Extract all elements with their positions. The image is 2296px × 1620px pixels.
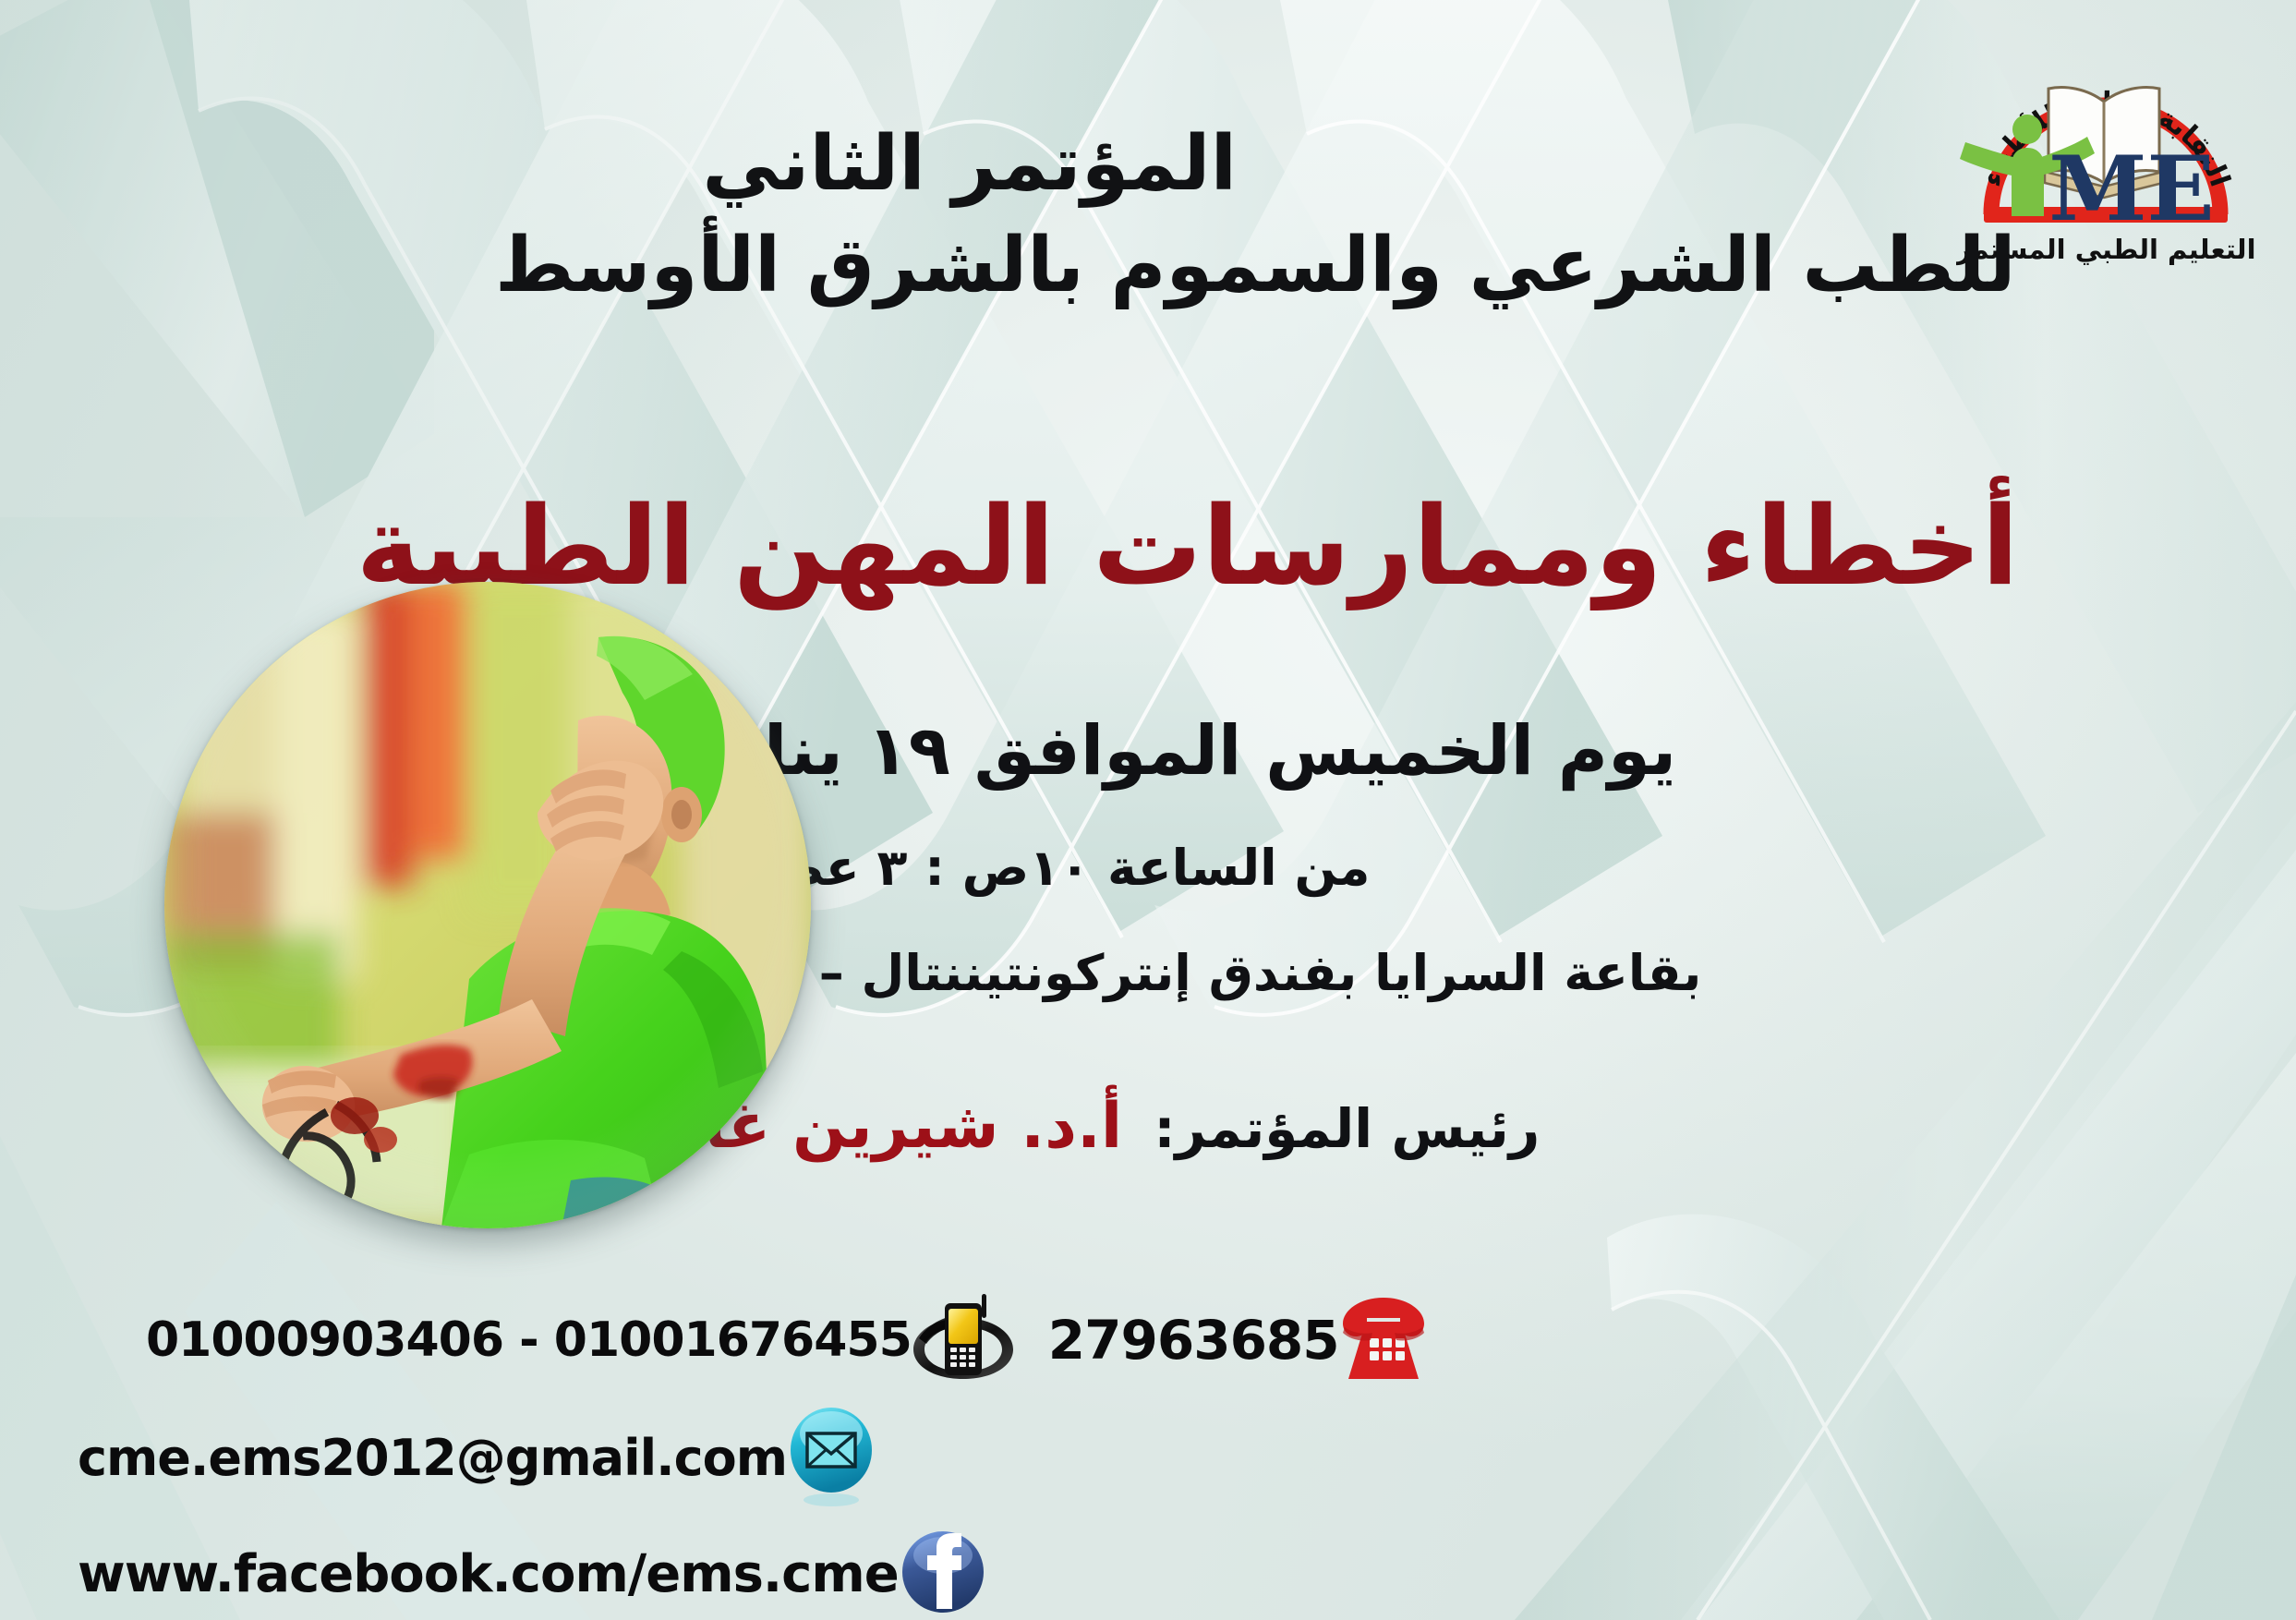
conference-title-line1-text: المؤتمر الثاني <box>702 120 1237 208</box>
contact-row-facebook: www.facebook.com/ems.cme <box>42 1524 987 1620</box>
contact-mobile-group: 01000903406 - 01001676455 <box>126 1287 1015 1394</box>
conference-photo <box>164 582 811 1228</box>
conference-title-line2: للطب الشرعي والسموم بالشرق الأوسط <box>356 222 2019 309</box>
logo-acronym: ME <box>2048 137 2214 241</box>
mobile-phone-icon <box>912 1287 1015 1394</box>
contact-row-phone: 27963685 <box>42 1287 1428 1394</box>
contact-row-email: cme.ems2012@gmail.com <box>42 1404 876 1511</box>
email-address[interactable]: cme.ems2012@gmail.com <box>78 1429 787 1487</box>
facebook-icon <box>899 1524 987 1620</box>
envelope-icon <box>787 1404 876 1511</box>
conference-chair-label: رئيس المؤتمر: <box>1154 1097 1540 1160</box>
conference-headline-text: أخطاء وممارسات المهن الطبية <box>356 482 2019 610</box>
conference-poster: النقابة العامة للأطباء ME التعليم الطبي … <box>0 0 2296 1620</box>
facebook-url[interactable]: www.facebook.com/ems.cme <box>78 1544 899 1604</box>
telephone-icon <box>1339 1290 1428 1390</box>
phone-number: 27963685 <box>1048 1309 1339 1372</box>
conference-title-line2-text: للطب الشرعي والسموم بالشرق الأوسط <box>495 222 2016 309</box>
conference-title-line1: المؤتمر الثاني <box>356 120 2019 208</box>
mobile-numbers: 01000903406 - 01001676455 <box>146 1312 912 1368</box>
